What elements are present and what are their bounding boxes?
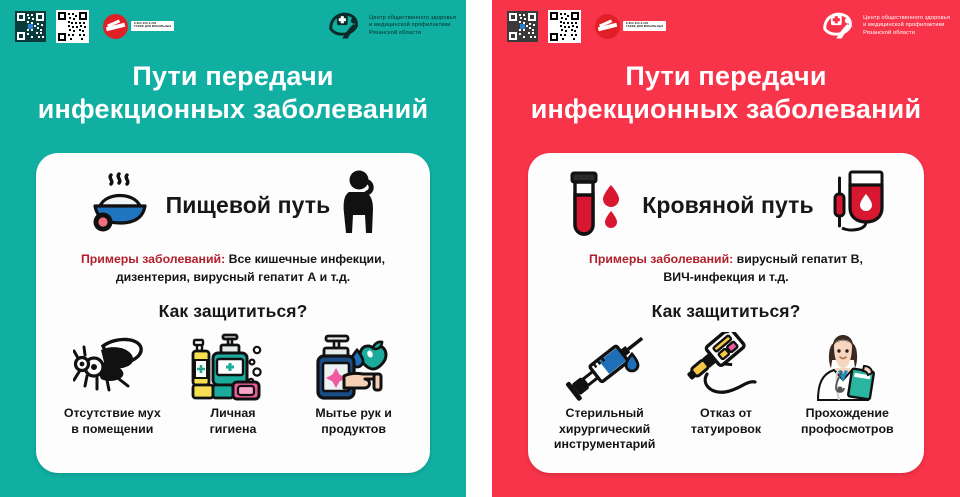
sick-person-icon (340, 169, 380, 241)
card-header-right: Кровяной путь (544, 165, 908, 245)
poster-header-left: 8-800-200-0-200 ТАКЖЕ ДЛЯ МОБИЛЬНЫХ Цент… (0, 0, 466, 52)
protect-question-right: Как защититься? (544, 301, 908, 322)
hygiene-bottles-icon (191, 332, 275, 402)
hotline-badge-icon (595, 14, 620, 39)
tile-art (73, 330, 151, 404)
tile-label-line: Личная (210, 406, 257, 422)
tile-wash-hands: Мытье рук и продуктов (294, 330, 413, 438)
tile-label-line: профосмотров (801, 422, 894, 438)
examples-rest-left: Все кишечные инфекции, (225, 252, 385, 266)
tile-label-line: продуктов (315, 422, 391, 438)
examples-right: Примеры заболеваний: вирусный гепатит В,… (544, 251, 908, 287)
org-logo-left: Центр общественного здоровья и медицинск… (327, 9, 456, 43)
tile-label-line: Отсутствие мух (64, 406, 161, 422)
soup-bowl-cart-icon (86, 170, 156, 240)
tile-label-line: татуировок (691, 422, 761, 438)
examples-left: Примеры заболеваний: Все кишечные инфекц… (52, 251, 414, 287)
tile-label-line: Стерильный (554, 406, 656, 422)
qr-code-right[interactable] (548, 10, 581, 43)
tile-no-tattoo: Отказ от татуировок (666, 330, 786, 438)
poster-blood-route: 8-800-200-0-200 ТАКЖЕ ДЛЯ МОБИЛЬНЫХ Цент… (492, 0, 960, 497)
hotline-line-2: ТАКЖЕ ДЛЯ МОБИЛЬНЫХ (626, 26, 663, 29)
org-logo-text: Центр общественного здоровья и медицинск… (863, 15, 950, 37)
panel-divider (466, 0, 492, 497)
tile-label: Отсутствие мух в помещении (64, 406, 161, 438)
title-line-1: Пути передачи (0, 60, 466, 93)
org-logo-line-3: Рязанской области (863, 30, 950, 37)
card-heading-left: Пищевой путь (166, 192, 331, 219)
tile-label-line: Мытье рук и (315, 406, 391, 422)
hotline-number: 8-800-200-0-200 ТАКЖЕ ДЛЯ МОБИЛЬНЫХ (623, 21, 666, 31)
tile-art (806, 330, 888, 404)
tile-art (310, 330, 398, 404)
tile-medical-checkups: Прохождение профосмотров (787, 330, 907, 438)
examples-rest-right: вирусный гепатит В, (733, 252, 863, 266)
tile-art (562, 330, 648, 404)
examples-line2-left: дизентерия, вирусный гепатит А и т.д. (52, 269, 414, 287)
tattoo-machine-icon (685, 332, 767, 402)
hotline-block: 8-800-200-0-200 ТАКЖЕ ДЛЯ МОБИЛЬНЫХ (595, 14, 666, 39)
health-center-logo-icon (327, 9, 363, 43)
tile-label: Стерильный хирургический инструментарий (554, 406, 656, 454)
qr-code-right[interactable] (56, 10, 89, 43)
qr-code-left[interactable] (506, 10, 539, 43)
qr-code-left[interactable] (14, 10, 47, 43)
poster-title-right: Пути передачи инфекционных заболеваний (492, 60, 960, 126)
hotline-badge-icon (103, 14, 128, 39)
poster-pair: 8-800-200-0-200 ТАКЖЕ ДЛЯ МОБИЛЬНЫХ Цент… (0, 0, 960, 497)
qr-group-left: 8-800-200-0-200 ТАКЖЕ ДЛЯ МОБИЛЬНЫХ (14, 10, 174, 43)
title-line-2: инфекционных заболеваний (0, 93, 466, 126)
examples-lead-left: Примеры заболеваний: (81, 252, 225, 266)
tile-label-line: инструментарий (554, 437, 656, 453)
protect-tiles-left: Отсутствие мух в помещении (52, 330, 414, 465)
female-doctor-icon (806, 330, 888, 404)
content-card-left: Пищевой путь Примеры заболеваний: Все ки… (36, 153, 430, 473)
tile-label-line: Прохождение (801, 406, 894, 422)
handwash-soap-apple-icon (310, 332, 398, 402)
hotline-line-2: ТАКЖЕ ДЛЯ МОБИЛЬНЫХ (134, 26, 171, 29)
fly-icon (73, 336, 151, 398)
tile-label: Отказ от татуировок (691, 406, 761, 438)
poster-header-right: 8-800-200-0-200 ТАКЖЕ ДЛЯ МОБИЛЬНЫХ Цент… (492, 0, 960, 52)
title-line-2: инфекционных заболеваний (492, 93, 960, 126)
tile-label-line: Отказ от (691, 406, 761, 422)
poster-title-left: Пути передачи инфекционных заболеваний (0, 60, 466, 126)
tile-label-line: гигиена (210, 422, 257, 438)
tile-art (685, 330, 767, 404)
hotline-number: 8-800-200-0-200 ТАКЖЕ ДЛЯ МОБИЛЬНЫХ (131, 21, 174, 31)
tile-no-flies: Отсутствие мух в помещении (53, 330, 172, 438)
poster-food-route: 8-800-200-0-200 ТАКЖЕ ДЛЯ МОБИЛЬНЫХ Цент… (0, 0, 466, 497)
blood-test-tube-icon (566, 169, 632, 241)
protect-question-left: Как защититься? (52, 301, 414, 322)
qr-group-right: 8-800-200-0-200 ТАКЖЕ ДЛЯ МОБИЛЬНЫХ (506, 10, 666, 43)
tile-art (191, 330, 275, 404)
card-heading-right: Кровяной путь (642, 192, 814, 219)
syringe-icon (562, 332, 648, 402)
examples-lead-right: Примеры заболеваний: (589, 252, 733, 266)
blood-iv-bag-icon (824, 168, 886, 242)
tile-label-line: хирургический (554, 422, 656, 438)
content-card-right: Кровяной путь Примеры заболеваний: вирус… (528, 153, 924, 473)
hotline-block: 8-800-200-0-200 ТАКЖЕ ДЛЯ МОБИЛЬНЫХ (103, 14, 174, 39)
tile-label: Личная гигиена (210, 406, 257, 438)
org-logo-line-3: Рязанской области (369, 30, 456, 37)
tile-personal-hygiene: Личная гигиена (173, 330, 292, 438)
org-logo-line-2: и медицинской профилактики (369, 22, 456, 29)
health-center-logo-icon (821, 9, 857, 43)
title-line-1: Пути передачи (492, 60, 960, 93)
tile-label: Прохождение профосмотров (801, 406, 894, 438)
org-logo-right: Центр общественного здоровья и медицинск… (821, 9, 950, 43)
examples-line2-right: ВИЧ-инфекция и т.д. (544, 269, 908, 287)
card-header-left: Пищевой путь (52, 165, 414, 245)
tile-label: Мытье рук и продуктов (315, 406, 391, 438)
tile-sterile-instruments: Стерильный хирургический инструментарий (545, 330, 665, 454)
tile-label-line: в помещении (64, 422, 161, 438)
org-logo-line-2: и медицинской профилактики (863, 22, 950, 29)
protect-tiles-right: Стерильный хирургический инструментарий (544, 330, 908, 465)
org-logo-text: Центр общественного здоровья и медицинск… (369, 15, 456, 37)
